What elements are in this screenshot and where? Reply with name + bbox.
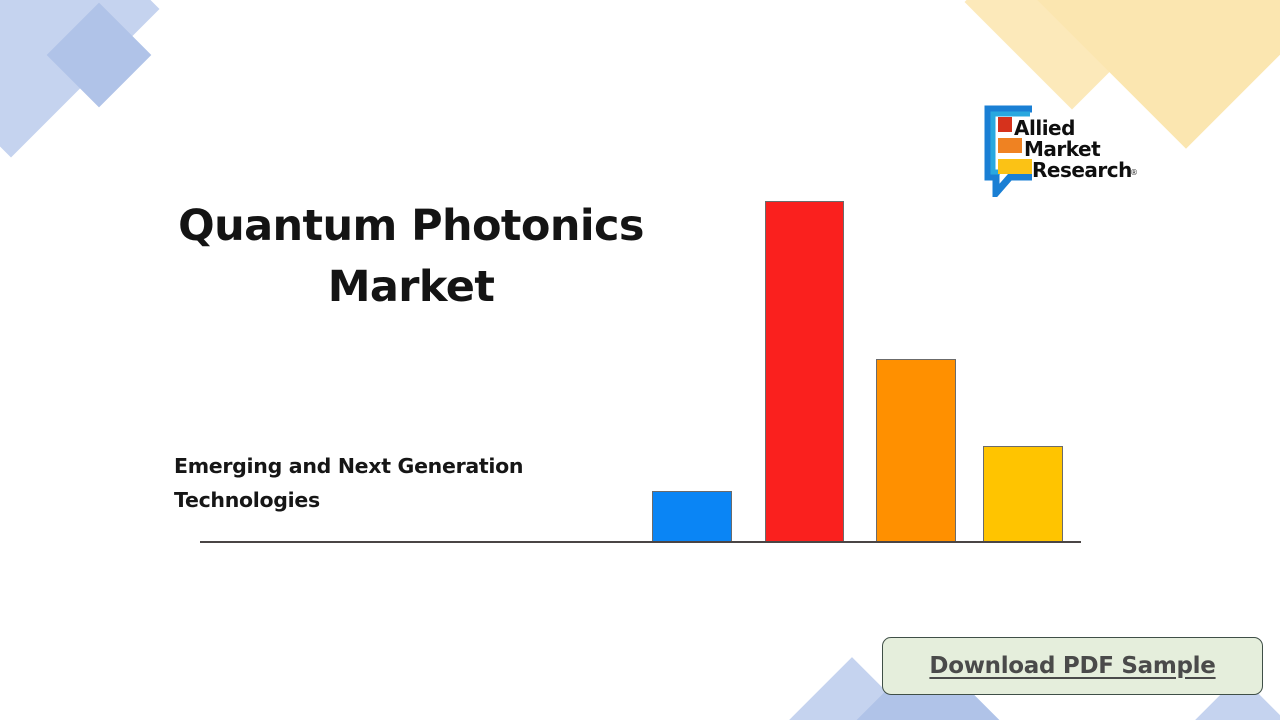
chart-axis-line [200, 541, 1081, 543]
logo-word-research: Research [1032, 158, 1132, 182]
chart-bar-1 [652, 491, 732, 542]
download-pdf-sample-button[interactable]: Download PDF Sample [882, 637, 1263, 695]
chart-bar-3 [876, 359, 956, 542]
allied-market-research-logo: Allied Market Research ® [980, 105, 1158, 197]
chart-bar-4 [983, 446, 1063, 542]
logo-trademark-symbol: ® [1130, 168, 1138, 177]
chart-bar-2 [765, 201, 844, 542]
slide-canvas: Quantum Photonics Market Emerging and Ne… [0, 0, 1280, 720]
download-pdf-sample-label: Download PDF Sample [929, 653, 1215, 679]
